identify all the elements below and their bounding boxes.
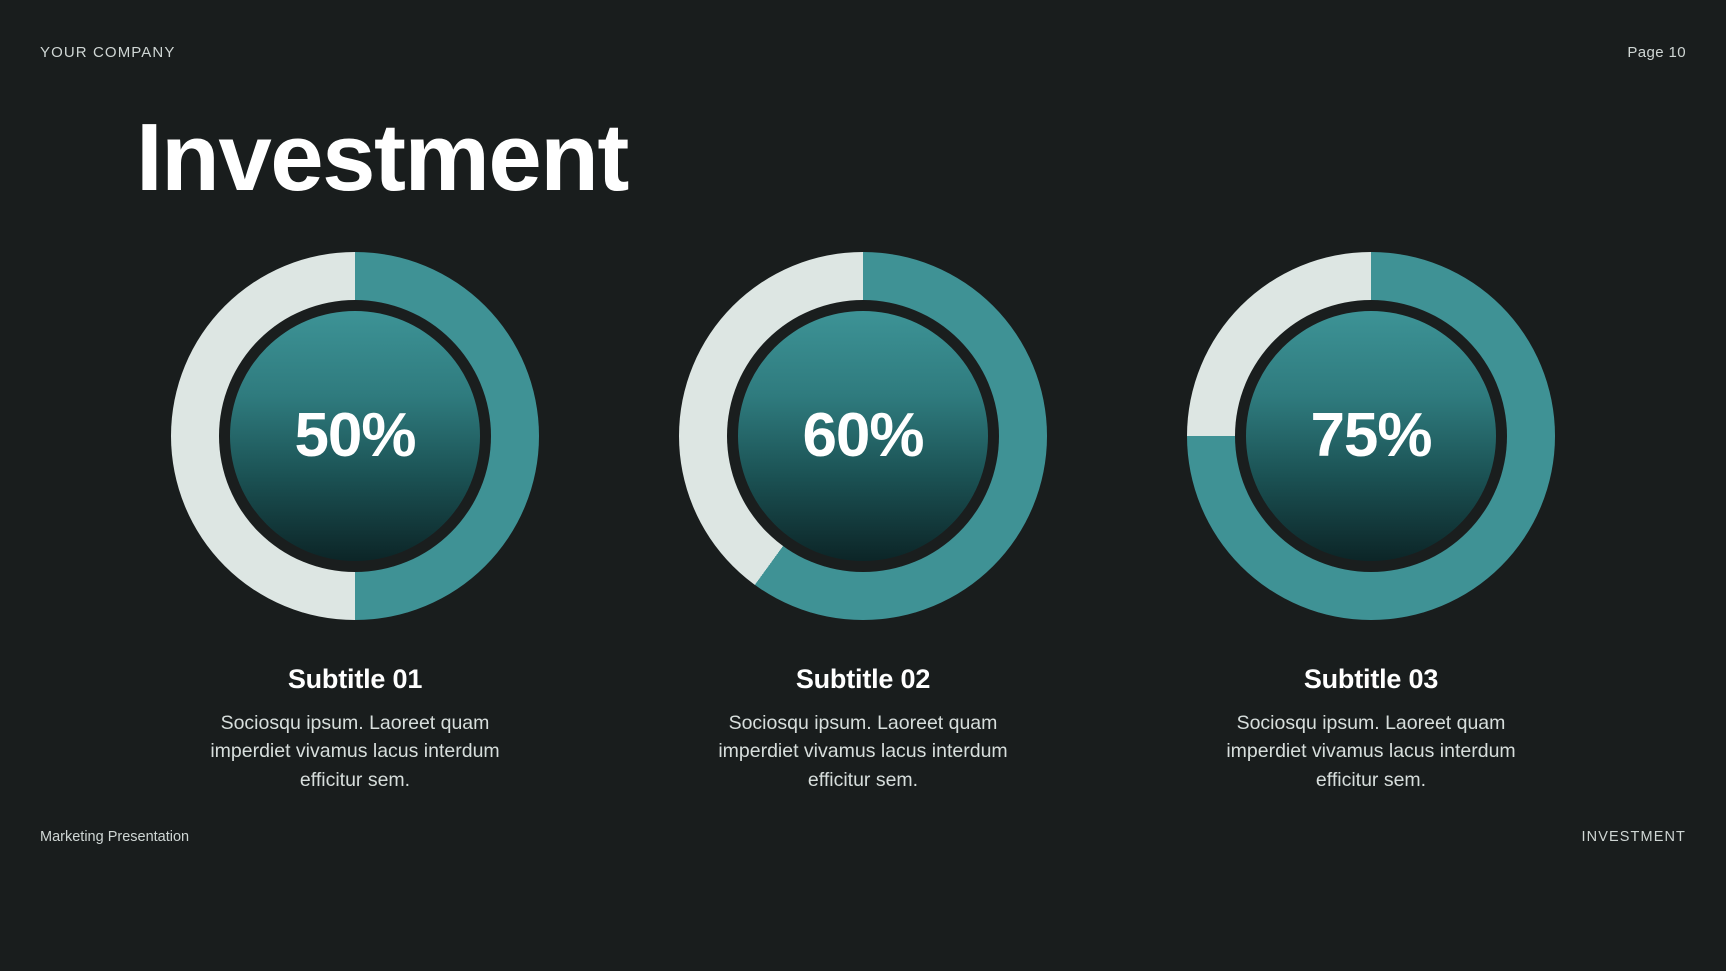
donut-columns: 50% Subtitle 01 Sociosqu ipsum. Laoreet … (0, 252, 1726, 794)
slide: YOUR COMPANY Page 10 Investment 50% Subt… (0, 0, 1726, 971)
donut-center: 50% (230, 311, 480, 561)
header-company-label: YOUR COMPANY (40, 44, 175, 61)
stat-description: Sociosqu ipsum. Laoreet quam imperdiet v… (708, 709, 1018, 794)
stat-subtitle: Subtitle 02 (796, 664, 930, 695)
stat-column: 60% Subtitle 02 Sociosqu ipsum. Laoreet … (669, 252, 1057, 794)
donut-center: 60% (738, 311, 988, 561)
donut-chart-1: 50% (171, 252, 539, 620)
page-title: Investment (136, 110, 628, 206)
stat-column: 50% Subtitle 01 Sociosqu ipsum. Laoreet … (161, 252, 549, 794)
stat-subtitle: Subtitle 03 (1304, 664, 1438, 695)
footer-right-label: INVESTMENT (1582, 829, 1686, 845)
stat-description: Sociosqu ipsum. Laoreet quam imperdiet v… (200, 709, 510, 794)
donut-percent-value: 60% (802, 405, 923, 467)
donut-chart-2: 60% (679, 252, 1047, 620)
stat-column: 75% Subtitle 03 Sociosqu ipsum. Laoreet … (1177, 252, 1565, 794)
stat-subtitle: Subtitle 01 (288, 664, 422, 695)
donut-center: 75% (1246, 311, 1496, 561)
header-page-number: Page 10 (1627, 44, 1686, 61)
footer-left-label: Marketing Presentation (40, 829, 189, 845)
donut-chart-3: 75% (1187, 252, 1555, 620)
donut-percent-value: 50% (294, 405, 415, 467)
stat-description: Sociosqu ipsum. Laoreet quam imperdiet v… (1216, 709, 1526, 794)
donut-percent-value: 75% (1310, 405, 1431, 467)
